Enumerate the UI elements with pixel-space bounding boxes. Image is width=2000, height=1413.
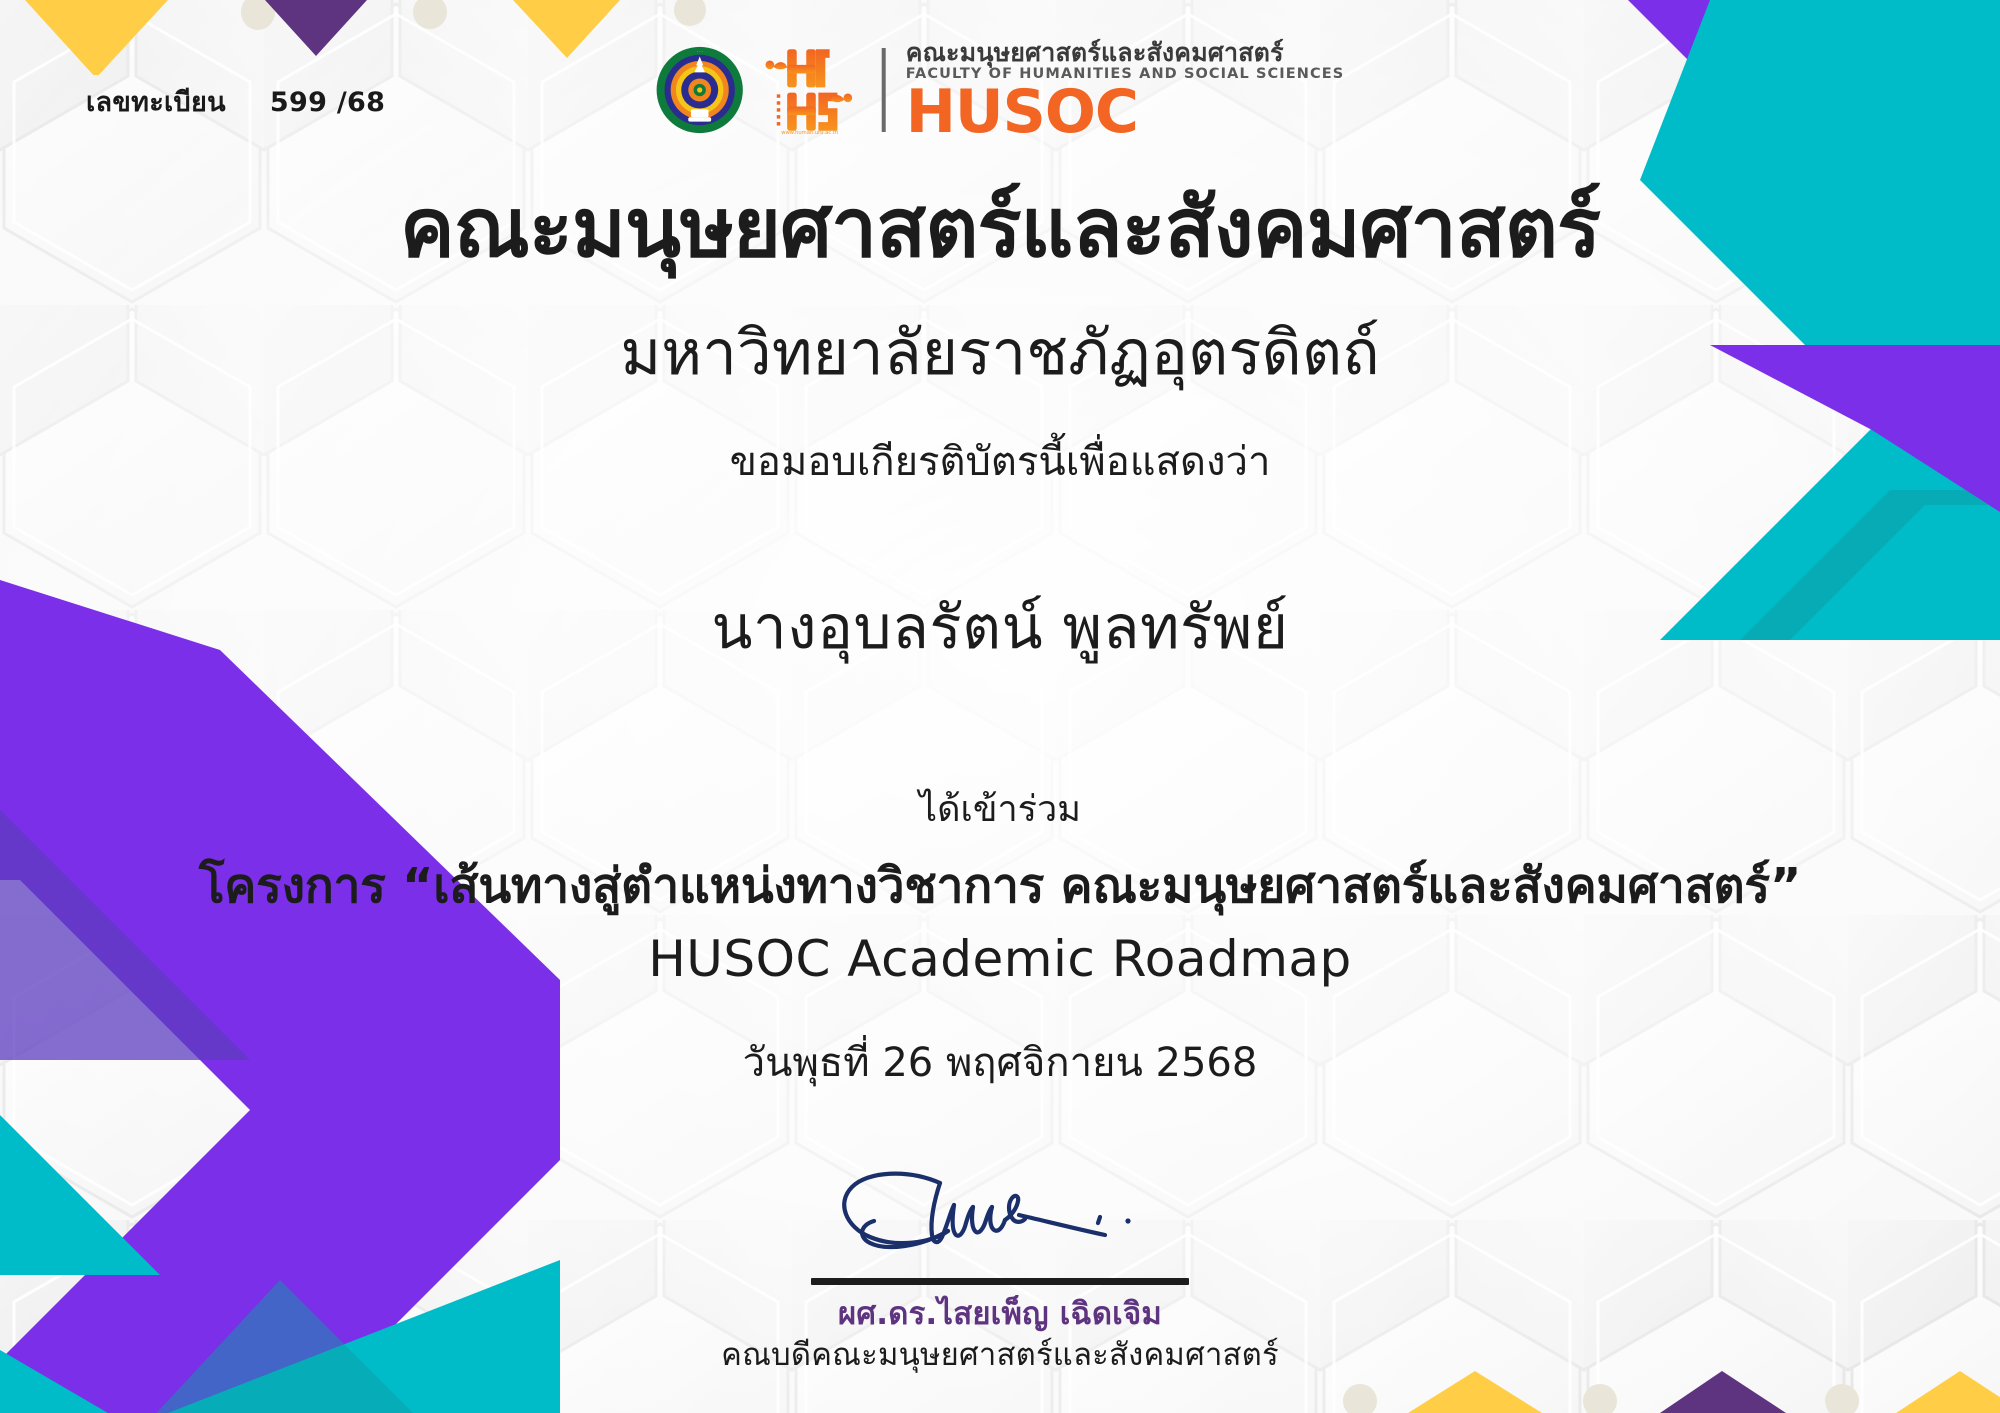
university-heading: มหาวิทยาลัยราชภัฏอุตรดิตถ์ bbox=[0, 320, 2000, 387]
registration-number: เลขทะเบียน599 /68 bbox=[86, 80, 385, 123]
husoc-logo-lockup: · · · bbox=[656, 42, 1345, 138]
logo-wordmark-block: คณะมนุษยศาสตร์และสังคมศาสตร์ FACULTY OF … bbox=[906, 40, 1345, 141]
registration-value: 599 /68 bbox=[270, 87, 385, 118]
signer-name: ผศ.ดร.ไสยเพ็ญ เฉิดเจิม bbox=[680, 1297, 1320, 1333]
project-title-th: โครงการ “เส้นทางสู่ตำแหน่งทางวิชาการ คณะ… bbox=[0, 848, 2000, 924]
registration-label: เลขทะเบียน bbox=[86, 87, 226, 118]
event-date: วันพุธที่ 26 พฤศจิกายน 2568 bbox=[0, 1030, 2000, 1094]
signature-rule bbox=[811, 1278, 1189, 1285]
logo-faculty-th: คณะมนุษยศาสตร์และสังคมศาสตร์ bbox=[906, 40, 1345, 66]
handwritten-signature-icon bbox=[790, 1165, 1210, 1270]
project-title-en: HUSOC Academic Roadmap bbox=[0, 930, 2000, 988]
participation-label: ได้เข้าร่วม bbox=[0, 780, 2000, 837]
husoc-monogram-icon: www.human.uru.ac.th bbox=[758, 44, 862, 136]
signer-role: คณบดีคณะมนุษยศาสตร์และสังคมศาสตร์ bbox=[680, 1337, 1320, 1374]
certificate-page: เลขทะเบียน599 /68 · · · bbox=[0, 0, 2000, 1413]
university-seal-icon: · · · bbox=[656, 46, 744, 134]
award-statement: ขอมอบเกียรติบัตรนี้เพื่อแสดงว่า bbox=[0, 440, 2000, 484]
faculty-heading: คณะมนุษยศาสตร์และสังคมศาสตร์ bbox=[0, 185, 2000, 274]
svg-text:www.human.uru.ac.th: www.human.uru.ac.th bbox=[781, 130, 838, 136]
svg-text:· · ·: · · · bbox=[697, 49, 703, 54]
signature-block: ผศ.ดร.ไสยเพ็ญ เฉิดเจิม คณบดีคณะมนุษยศาสต… bbox=[680, 1165, 1320, 1374]
logo-husoc-wordmark: HUSOC bbox=[906, 85, 1345, 140]
logo-divider bbox=[882, 48, 886, 132]
recipient-name: นางอุบลรัตน์ พูลทรัพย์ bbox=[0, 595, 2000, 661]
